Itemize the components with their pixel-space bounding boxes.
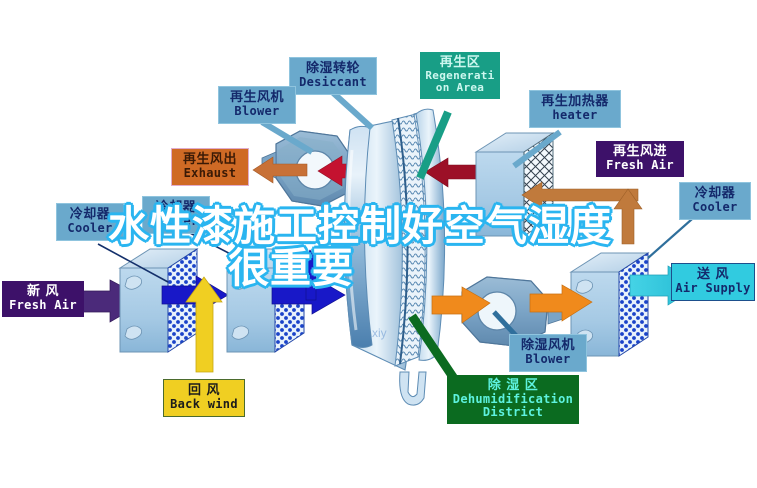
callout-back-wind-cn: 回 风 — [166, 384, 242, 398]
callout-cooler-right[interactable]: 冷却器 Cooler — [679, 182, 751, 220]
diagram-canvas: xiy 除湿转轮 Desiccant 再生风机 Blower 再生区 Regen… — [0, 0, 757, 488]
callout-cooler-right-en: Cooler — [682, 201, 748, 214]
callout-dehumidification-district[interactable]: 除 湿 区 Dehumidification District — [447, 375, 579, 424]
callout-exhaust-cn: 再生风出 — [174, 153, 246, 167]
headline-line2: 很重要 — [108, 248, 668, 290]
callout-dehumid-district-cn: 除 湿 区 — [449, 379, 577, 393]
callout-fresh-air-in-cn: 新 风 — [4, 285, 82, 299]
watermark-text: xiy — [372, 326, 387, 340]
callout-dehumid-blower-en: Blower — [512, 353, 584, 366]
callout-regen-fresh-air-cn: 再生风进 — [598, 145, 682, 159]
callout-air-supply[interactable]: 送 风 Air Supply — [671, 263, 755, 301]
callout-desiccant-en: Desiccant — [292, 76, 374, 89]
callout-air-supply-cn: 送 风 — [674, 268, 752, 282]
callout-fresh-air-in[interactable]: 新 风 Fresh Air — [2, 281, 84, 317]
callout-dehumid-district-en2: District — [449, 406, 577, 419]
callout-regen-blower[interactable]: 再生风机 Blower — [218, 86, 296, 124]
callout-regen-heater-cn: 再生加热器 — [532, 95, 618, 109]
callout-cooler-right-cn: 冷却器 — [682, 187, 748, 201]
callout-fresh-air-in-en: Fresh Air — [4, 299, 82, 312]
callout-back-wind[interactable]: 回 风 Back wind — [163, 379, 245, 417]
headline-line1: 水性漆施工控制好空气湿度 — [108, 206, 668, 248]
callout-back-wind-en: Back wind — [166, 398, 242, 411]
callout-regen-heater-en: heater — [532, 109, 618, 122]
callout-desiccant[interactable]: 除湿转轮 Desiccant — [289, 57, 377, 95]
callout-regen-heater[interactable]: 再生加热器 heater — [529, 90, 621, 128]
callout-exhaust[interactable]: 再生风出 Exhaust — [171, 148, 249, 186]
callout-regen-blower-en: Blower — [221, 105, 293, 118]
callout-regen-fresh-air[interactable]: 再生风进 Fresh Air — [596, 141, 684, 177]
callout-regeneration-area[interactable]: 再生区 Regenerati on Area — [420, 52, 500, 99]
callout-regeneration-area-en2: on Area — [422, 82, 498, 94]
callout-dehumid-blower[interactable]: 除湿风机 Blower — [509, 334, 587, 372]
callout-regen-fresh-air-en: Fresh Air — [598, 159, 682, 172]
callout-desiccant-cn: 除湿转轮 — [292, 62, 374, 76]
callout-exhaust-en: Exhaust — [174, 167, 246, 180]
callout-air-supply-en: Air Supply — [674, 282, 752, 295]
drain-pan — [400, 372, 426, 405]
headline-overlay: 水性漆施工控制好空气湿度 很重要 — [108, 206, 668, 290]
callout-dehumid-blower-cn: 除湿风机 — [512, 339, 584, 353]
callout-regeneration-area-cn: 再生区 — [422, 56, 498, 70]
callout-regen-blower-cn: 再生风机 — [221, 91, 293, 105]
